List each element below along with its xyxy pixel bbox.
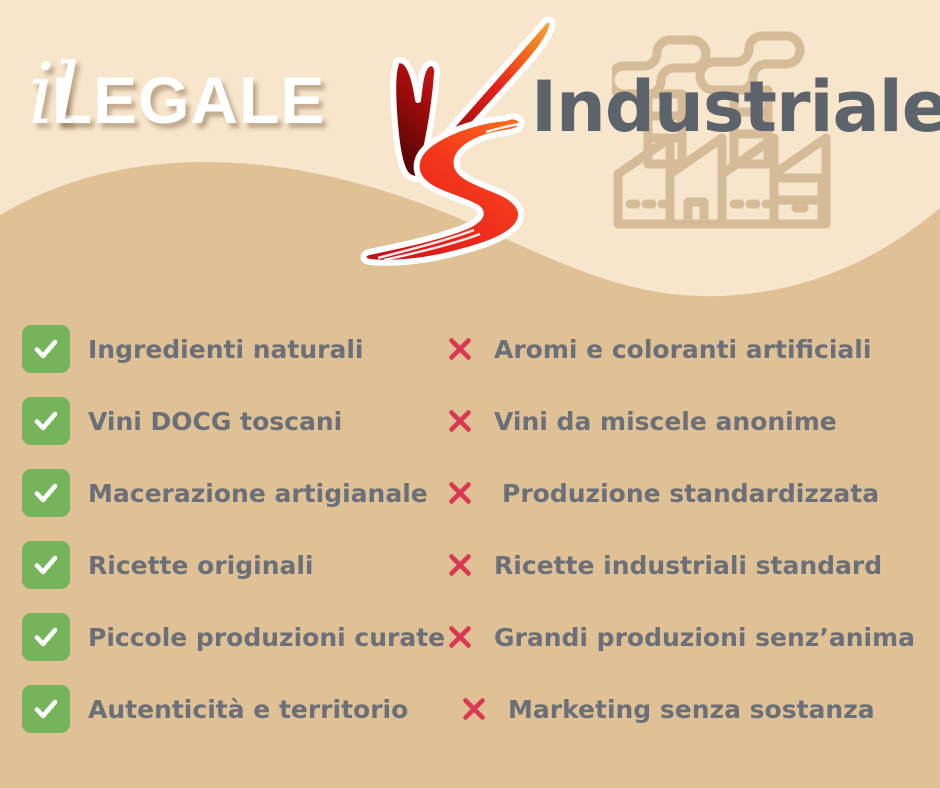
cross-icon bbox=[440, 329, 480, 369]
cross-icon bbox=[440, 473, 480, 513]
pro-label: Piccole produzioni curate bbox=[88, 625, 445, 650]
comparison-list: Ingredienti naturali Aromi e coloranti a… bbox=[0, 300, 940, 760]
pro-label: Macerazione artigianale bbox=[88, 481, 428, 506]
pro-label: Vini DOCG toscani bbox=[88, 409, 342, 434]
vs-brush-icon bbox=[358, 8, 558, 270]
comparison-poster: il LEGALE bbox=[0, 0, 940, 788]
pro-cell: Ingredienti naturali bbox=[0, 325, 440, 373]
comparison-row: Ingredienti naturali Aromi e coloranti a… bbox=[0, 318, 940, 380]
check-icon bbox=[22, 325, 70, 373]
comparison-row: Autenticità e territorio Marketing senza… bbox=[0, 678, 940, 740]
pro-cell: Piccole produzioni curate bbox=[0, 613, 440, 661]
pro-label: Ingredienti naturali bbox=[88, 337, 363, 362]
con-label: Ricette industriali standard bbox=[494, 553, 882, 578]
check-icon bbox=[22, 613, 70, 661]
pro-label: Ricette originali bbox=[88, 553, 314, 578]
check-icon bbox=[22, 541, 70, 589]
brand-legale-word: LEGALE bbox=[52, 67, 326, 133]
pro-cell: Autenticità e territorio bbox=[0, 685, 440, 733]
con-label: Produzione standardizzata bbox=[502, 481, 879, 506]
pro-cell: Vini DOCG toscani bbox=[0, 397, 440, 445]
comparison-row: Macerazione artigianale Produzione stand… bbox=[0, 462, 940, 524]
con-label: Vini da miscele anonime bbox=[494, 409, 837, 434]
pro-cell: Ricette originali bbox=[0, 541, 440, 589]
con-cell: Marketing senza sostanza bbox=[440, 689, 940, 729]
con-cell: Vini da miscele anonime bbox=[440, 401, 940, 441]
cross-icon bbox=[440, 401, 480, 441]
con-label: Aromi e coloranti artificiali bbox=[494, 337, 871, 362]
comparison-row: Piccole produzioni curate Grandi produzi… bbox=[0, 606, 940, 668]
brand-legale: il LEGALE bbox=[28, 52, 325, 162]
check-icon bbox=[22, 685, 70, 733]
cross-icon bbox=[454, 689, 494, 729]
con-cell: Ricette industriali standard bbox=[440, 545, 940, 585]
poster-header: il LEGALE bbox=[0, 0, 940, 300]
con-label: Marketing senza sostanza bbox=[508, 697, 875, 722]
check-icon bbox=[22, 397, 70, 445]
con-cell: Aromi e coloranti artificiali bbox=[440, 329, 940, 369]
con-label: Grandi produzioni senz’anima bbox=[494, 625, 915, 650]
pro-label: Autenticità e territorio bbox=[88, 697, 408, 722]
brand-industriale: Industriale bbox=[531, 72, 940, 142]
con-cell: Grandi produzioni senz’anima bbox=[440, 617, 940, 657]
brand-il-script: il bbox=[28, 52, 78, 136]
pro-cell: Macerazione artigianale bbox=[0, 469, 440, 517]
comparison-row: Vini DOCG toscani Vini da miscele anonim… bbox=[0, 390, 940, 452]
con-cell: Produzione standardizzata bbox=[440, 473, 940, 513]
cross-icon bbox=[440, 545, 480, 585]
check-icon bbox=[22, 469, 70, 517]
comparison-row: Ricette originali Ricette industriali st… bbox=[0, 534, 940, 596]
cross-icon bbox=[440, 617, 480, 657]
